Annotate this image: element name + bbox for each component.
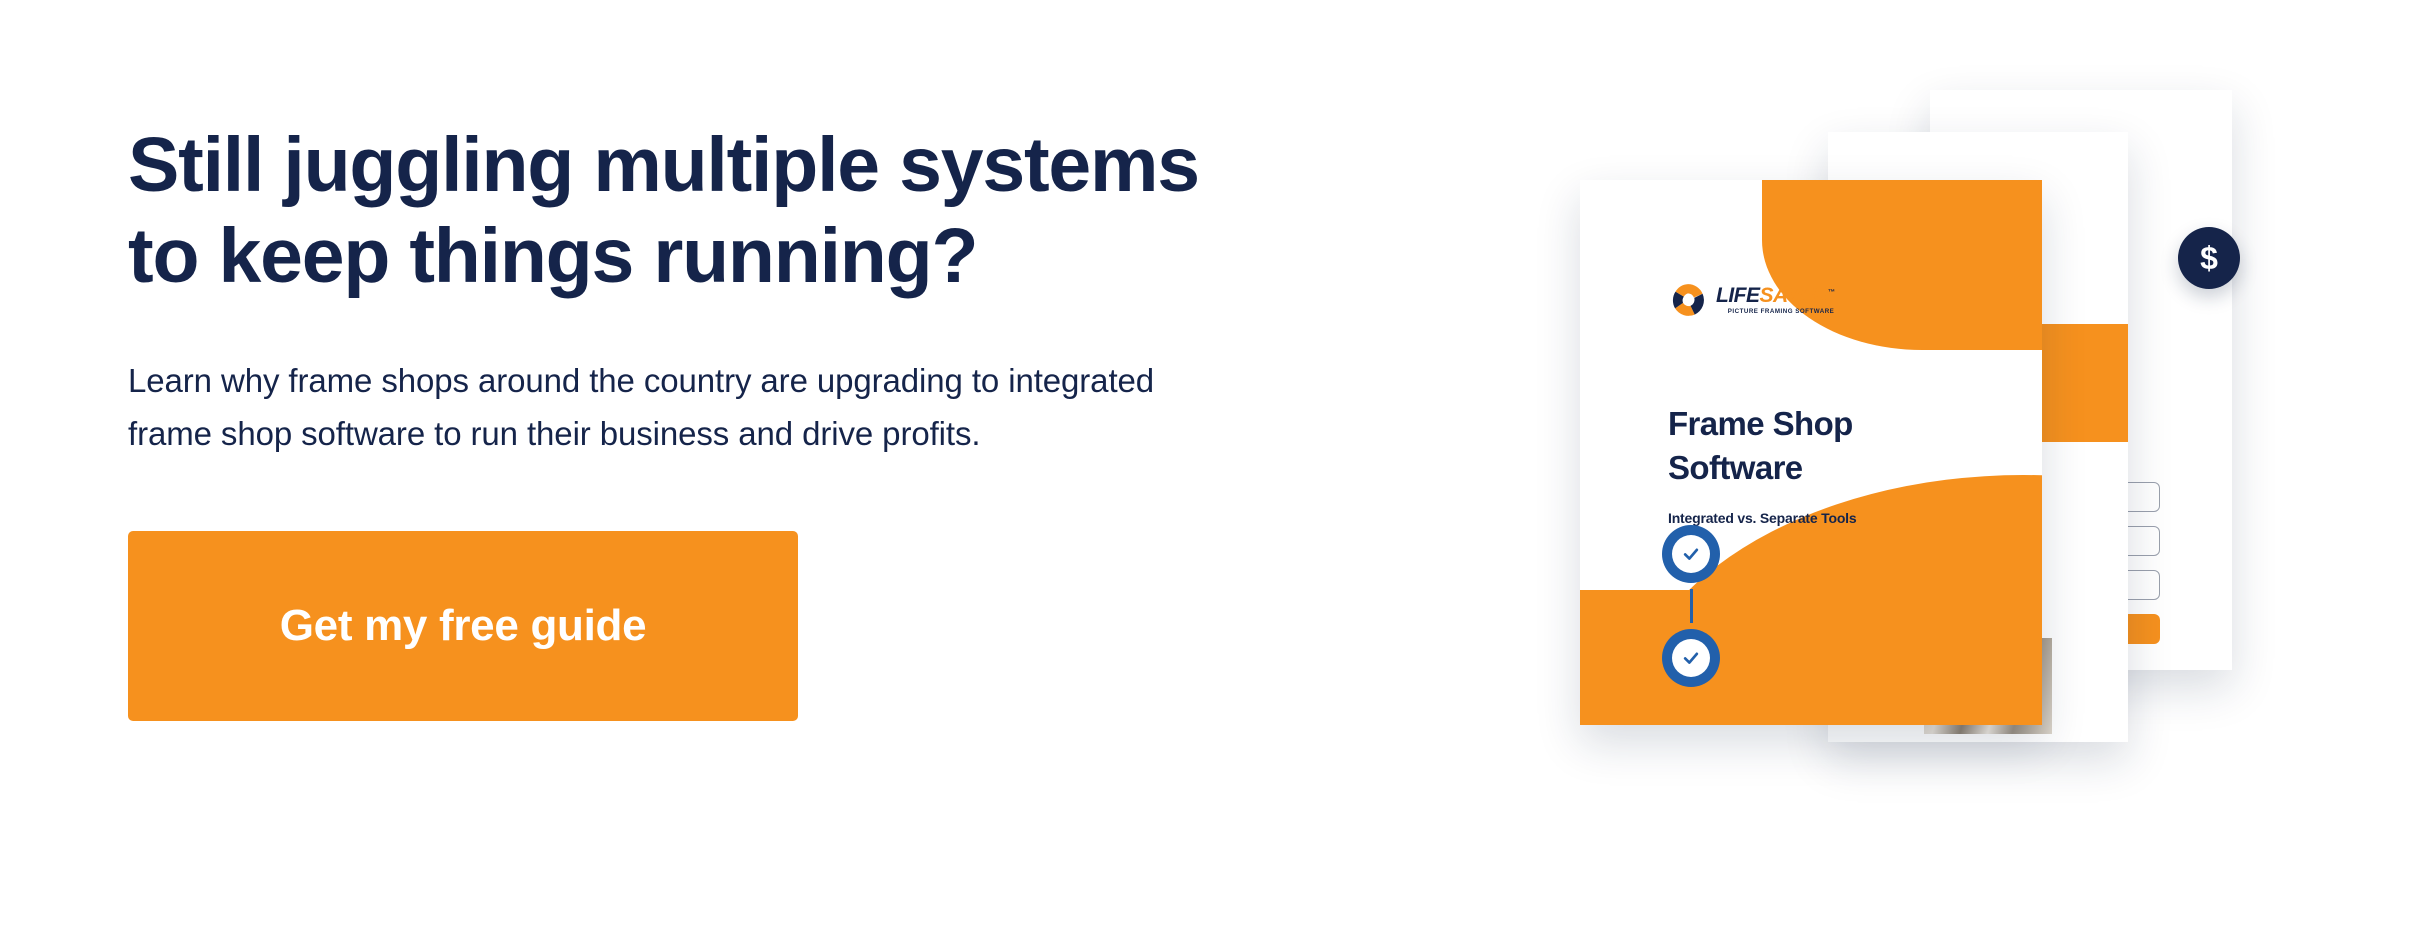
cover-subtitle: Integrated vs. Separate Tools <box>1668 510 1856 526</box>
check-badge <box>1662 629 1720 687</box>
headline-line-2: to keep things running? <box>128 211 1388 302</box>
logo-tagline: PICTURE FRAMING SOFTWARE <box>1716 309 1834 315</box>
page-title: Still juggling multiple systems to keep … <box>128 120 1388 302</box>
dollar-circle-icon: $ <box>2178 227 2240 289</box>
check-connector-line <box>1690 589 1693 623</box>
subheading: Learn why frame shops around the country… <box>128 354 1428 461</box>
logo-trademark: ™ <box>1828 289 1835 296</box>
cover-title: Frame Shop Software <box>1668 402 1853 489</box>
logo-word-saver: SAVER <box>1760 284 1828 307</box>
check-circle-icon <box>1681 544 1701 564</box>
logo-word-life: LIFE <box>1716 284 1760 307</box>
headline-line-1: Still juggling multiple systems <box>128 120 1388 211</box>
cover-title-line-2: Software <box>1668 446 1853 490</box>
check-circle-icon <box>1681 648 1701 668</box>
subheading-line-1: Learn why frame shops around the country… <box>128 354 1428 407</box>
guide-cover: LIFESAVER™ PICTURE FRAMING SOFTWARE Fram… <box>1580 180 2042 725</box>
cta-banner: Still juggling multiple systems to keep … <box>0 0 2420 937</box>
check-badge <box>1662 525 1720 583</box>
cover-title-line-1: Frame Shop <box>1668 402 1853 446</box>
subheading-line-2: frame shop software to run their busines… <box>128 407 1428 460</box>
copy-column: Still juggling multiple systems to keep … <box>128 120 1448 721</box>
cover-orange-shape-top <box>1762 180 2042 350</box>
get-free-guide-button[interactable]: Get my free guide <box>128 531 798 721</box>
logo-wordmark: LIFESAVER™ PICTURE FRAMING SOFTWARE <box>1716 285 1834 315</box>
cover-check-list <box>1662 525 1720 687</box>
check-badge-inner <box>1672 535 1710 573</box>
guide-mockup-stack: r, a family atment: one box framing. e e… <box>1580 90 2380 830</box>
check-badge-inner <box>1672 639 1710 677</box>
lifesaver-logo: LIFESAVER™ PICTURE FRAMING SOFTWARE <box>1668 280 1834 320</box>
lifesaver-ring-icon <box>1668 280 1708 320</box>
